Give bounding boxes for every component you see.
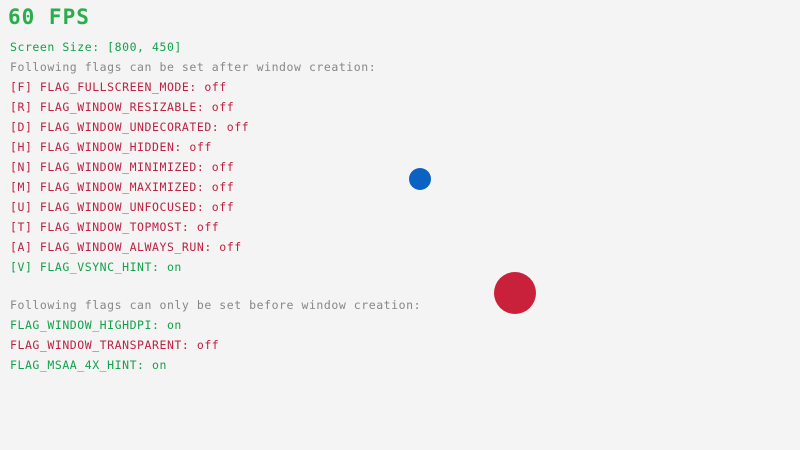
fps-counter: 60 FPS — [8, 4, 90, 30]
flag-hotkey: [D] — [10, 120, 32, 134]
flag-row-flag-window-always-run[interactable]: [A] FLAG_WINDOW_ALWAYS_RUN: off — [10, 240, 242, 254]
flag-value: on — [159, 318, 181, 332]
flag-row-flag-window-topmost[interactable]: [T] FLAG_WINDOW_TOPMOST: off — [10, 220, 219, 234]
flag-row-flag-window-unfocused[interactable]: [U] FLAG_WINDOW_UNFOCUSED: off — [10, 200, 234, 214]
flag-name: FLAG_WINDOW_HIGHDPI: — [10, 318, 159, 332]
flag-value: off — [212, 240, 242, 254]
flag-name: FLAG_MSAA_4X_HINT: — [10, 358, 145, 372]
flag-value: off — [204, 160, 234, 174]
raylib-window: 60 FPS Screen Size: [800, 450] Following… — [0, 0, 800, 450]
flag-name: FLAG_FULLSCREEN_MODE: — [32, 80, 196, 94]
flag-row-flag-window-hidden[interactable]: [H] FLAG_WINDOW_HIDDEN: off — [10, 140, 212, 154]
flag-row-flag-fullscreen-mode[interactable]: [F] FLAG_FULLSCREEN_MODE: off — [10, 80, 227, 94]
flag-value: off — [204, 100, 234, 114]
startup-flag-row-flag-msaa-4x-hint: FLAG_MSAA_4X_HINT: on — [10, 358, 167, 372]
startup-flag-row-flag-window-highdpi: FLAG_WINDOW_HIGHDPI: on — [10, 318, 182, 332]
flag-value: off — [197, 80, 227, 94]
blue-ball — [409, 168, 431, 190]
flag-value: off — [204, 180, 234, 194]
flag-hotkey: [H] — [10, 140, 32, 154]
flag-hotkey: [M] — [10, 180, 32, 194]
flag-row-flag-window-maximized[interactable]: [M] FLAG_WINDOW_MAXIMIZED: off — [10, 180, 234, 194]
flag-name: FLAG_WINDOW_ALWAYS_RUN: — [32, 240, 211, 254]
flag-value: on — [159, 260, 181, 274]
flag-name: FLAG_WINDOW_TRANSPARENT: — [10, 338, 189, 352]
flag-name: FLAG_WINDOW_UNDECORATED: — [32, 120, 219, 134]
flag-hotkey: [U] — [10, 200, 32, 214]
flag-name: FLAG_WINDOW_MINIMIZED: — [32, 160, 204, 174]
flag-value: off — [189, 338, 219, 352]
flag-hotkey: [T] — [10, 220, 32, 234]
startup-flag-row-flag-window-transparent: FLAG_WINDOW_TRANSPARENT: off — [10, 338, 219, 352]
flag-hotkey: [F] — [10, 80, 32, 94]
flag-hotkey: [R] — [10, 100, 32, 114]
flag-row-flag-vsync-hint[interactable]: [V] FLAG_VSYNC_HINT: on — [10, 260, 182, 274]
flag-name: FLAG_WINDOW_TOPMOST: — [32, 220, 189, 234]
flag-value: off — [189, 220, 219, 234]
screen-size-label: Screen Size: [800, 450] — [10, 40, 182, 54]
flag-name: FLAG_WINDOW_MAXIMIZED: — [32, 180, 204, 194]
flag-name: FLAG_WINDOW_UNFOCUSED: — [32, 200, 204, 214]
flag-name: FLAG_VSYNC_HINT: — [32, 260, 159, 274]
flag-hotkey: [V] — [10, 260, 32, 274]
flag-row-flag-window-resizable[interactable]: [R] FLAG_WINDOW_RESIZABLE: off — [10, 100, 234, 114]
red-ball — [494, 272, 536, 314]
flag-value: off — [182, 140, 212, 154]
flag-name: FLAG_WINDOW_RESIZABLE: — [32, 100, 204, 114]
flag-name: FLAG_WINDOW_HIDDEN: — [32, 140, 181, 154]
flag-row-flag-window-minimized[interactable]: [N] FLAG_WINDOW_MINIMIZED: off — [10, 160, 234, 174]
after-creation-header: Following flags can be set after window … — [10, 60, 376, 74]
flag-row-flag-window-undecorated[interactable]: [D] FLAG_WINDOW_UNDECORATED: off — [10, 120, 249, 134]
flag-hotkey: [N] — [10, 160, 32, 174]
flag-value: off — [219, 120, 249, 134]
flag-value: on — [145, 358, 167, 372]
flag-value: off — [204, 200, 234, 214]
before-creation-header: Following flags can only be set before w… — [10, 298, 421, 312]
flag-hotkey: [A] — [10, 240, 32, 254]
